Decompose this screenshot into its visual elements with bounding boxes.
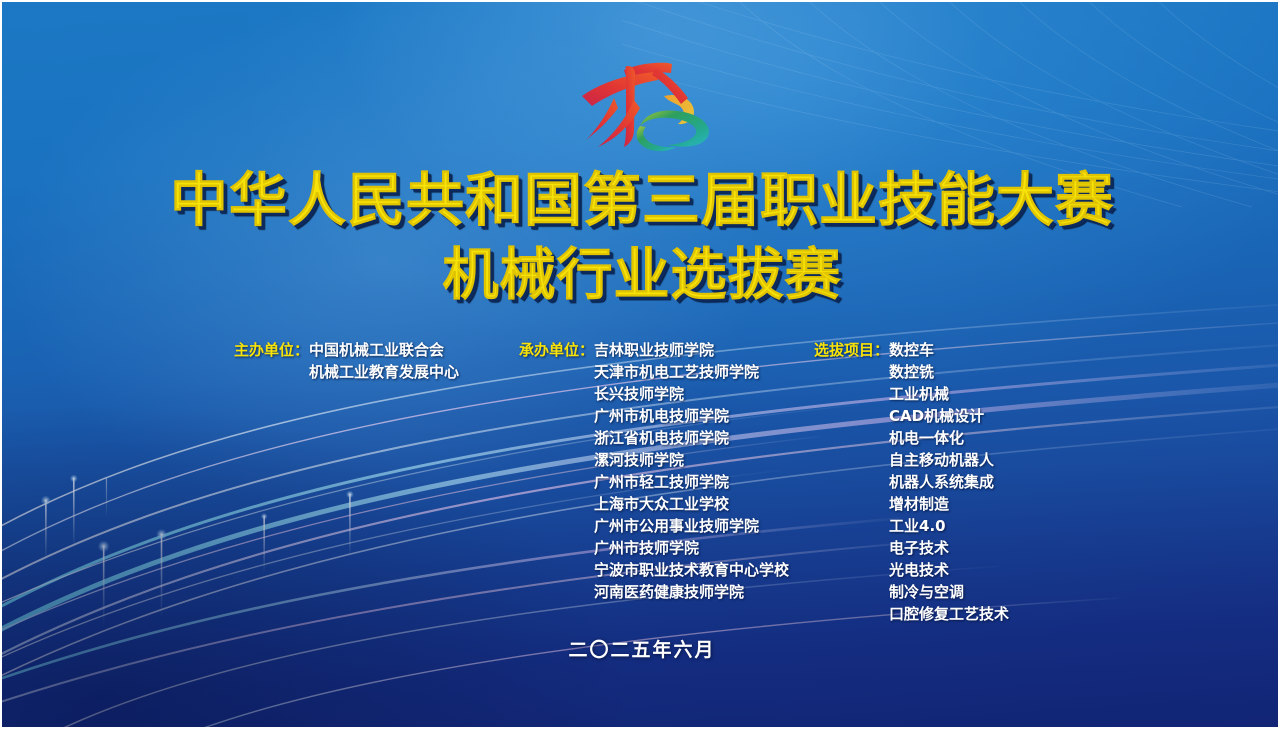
events-label: 选拔项目： [814,339,889,361]
host-item: 宁波市职业技术教育中心学校 [594,559,819,581]
title-line-2: 机械行业选拔赛 [2,245,1280,308]
host-item: 广州市机电技师学院 [594,405,819,427]
event-item: 增材制造 [889,493,1074,515]
events-values: 数控车 数控铣 工业机械 CAD机械设计 机电一体化 自主移动机器人 机器人系统… [889,339,1074,625]
organizer-column: 主办单位： 中国机械工业联合会 机械工业教育发展中心 [234,339,504,383]
host-values: 吉林职业技师学院 天津市机电工艺技师学院 长兴技师学院 广州市机电技师学院 浙江… [594,339,819,603]
event-item: 电子技术 [889,537,1074,559]
host-item: 漯河技师学院 [594,449,819,471]
event-item: 自主移动机器人 [889,449,1074,471]
organizer-values: 中国机械工业联合会 机械工业教育发展中心 [309,339,504,383]
organizer-item: 机械工业教育发展中心 [309,361,504,383]
event-item: 工业4.0 [889,515,1074,537]
event-item: 数控铣 [889,361,1074,383]
organizer-item: 中国机械工业联合会 [309,339,504,361]
host-item: 广州市轻工技师学院 [594,471,819,493]
event-item: 口腔修复工艺技术 [889,603,1074,625]
host-item: 广州市公用事业技师学院 [594,515,819,537]
banner-date: 二〇二五年六月 [2,635,1280,662]
host-item: 河南医药健康技师学院 [594,581,819,603]
event-item: 机电一体化 [889,427,1074,449]
host-item: 长兴技师学院 [594,383,819,405]
host-item: 吉林职业技师学院 [594,339,819,361]
host-item: 天津市机电工艺技师学院 [594,361,819,383]
host-item: 浙江省机电技师学院 [594,427,819,449]
banner-title: 中华人民共和国第三届职业技能大赛 机械行业选拔赛 [2,168,1280,308]
events-column: 选拔项目： 数控车 数控铣 工业机械 CAD机械设计 机电一体化 自主移动机器人… [814,339,1074,625]
event-item: 工业机械 [889,383,1074,405]
title-line-1: 中华人民共和国第三届职业技能大赛 [2,168,1280,233]
host-column: 承办单位： 吉林职业技师学院 天津市机电工艺技师学院 长兴技师学院 广州市机电技… [519,339,819,603]
skill-competition-logo-icon [568,52,718,157]
event-item: CAD机械设计 [889,405,1074,427]
event-item: 制冷与空调 [889,581,1074,603]
host-item: 广州市技师学院 [594,537,819,559]
host-item: 上海市大众工业学校 [594,493,819,515]
event-item: 机器人系统集成 [889,471,1074,493]
event-item: 数控车 [889,339,1074,361]
event-item: 光电技术 [889,559,1074,581]
info-columns: 主办单位： 中国机械工业联合会 机械工业教育发展中心 承办单位： 吉林职业技师学… [2,339,1280,639]
competition-banner: 中华人民共和国第三届职业技能大赛 机械行业选拔赛 主办单位： 中国机械工业联合会… [0,0,1280,729]
host-label: 承办单位： [519,339,594,361]
competition-logo [568,52,718,157]
organizer-label: 主办单位： [234,339,309,361]
